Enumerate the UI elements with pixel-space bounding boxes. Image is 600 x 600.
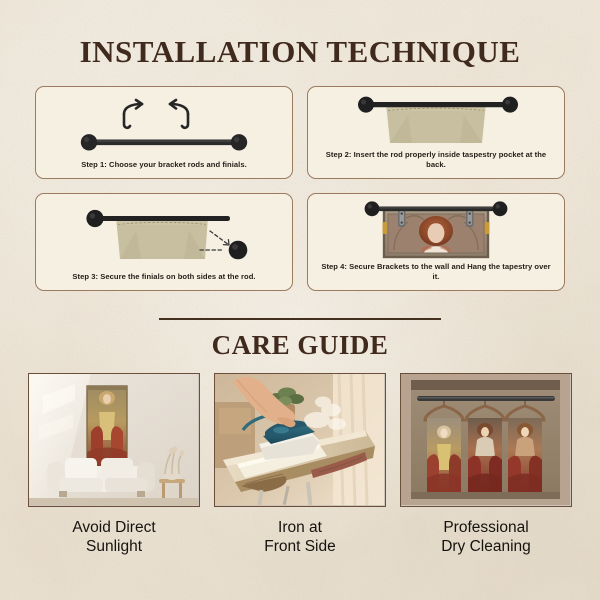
- step-3-caption: Step 3: Secure the finials on both sides…: [68, 272, 259, 283]
- step-card-4: Step 4: Secure Brackets to the wall and …: [307, 193, 565, 291]
- care-guide-title: CARE GUIDE: [0, 332, 600, 359]
- finial-left-attached: [86, 210, 103, 227]
- curtain-rod: [95, 140, 233, 146]
- care-label-avoid-direct-sunlight: Avoid Direct Sunlight: [72, 519, 155, 557]
- installation-steps: Step 1: Choose your bracket rods and fin…: [0, 86, 600, 291]
- page-title: INSTALLATION TECHNIQUE: [0, 0, 600, 67]
- step-1-illustration: [44, 93, 284, 160]
- care-label-line-1: Iron at: [264, 519, 336, 538]
- care-item-avoid-direct-sunlight: Avoid Direct Sunlight: [28, 373, 200, 557]
- care-photo-closet: [400, 373, 572, 507]
- finial-left: [358, 97, 374, 113]
- care-label-professional-dry-cleaning: Professional Dry Cleaning: [441, 519, 531, 557]
- finial-left: [365, 201, 380, 216]
- step-4-illustration: [316, 200, 556, 262]
- tapestry-tab-left: [383, 222, 388, 234]
- wall-bracket-right: [466, 209, 474, 227]
- care-label-line-2: Dry Cleaning: [441, 538, 531, 557]
- curtain-rod: [370, 102, 506, 107]
- finial-right: [231, 135, 247, 151]
- step-card-1: Step 1: Choose your bracket rods and fin…: [35, 86, 293, 179]
- closet-rail: [417, 396, 555, 401]
- curtain-rod: [376, 207, 496, 212]
- care-item-professional-dry-cleaning: Professional Dry Cleaning: [400, 373, 572, 557]
- care-guide-items: Avoid Direct Sunlight: [0, 373, 600, 557]
- bracket-hook-left: [124, 100, 142, 128]
- care-label-iron-at-front-side: Iron at Front Side: [264, 519, 336, 557]
- care-label-line-1: Professional: [441, 519, 531, 538]
- care-label-line-2: Sunlight: [72, 538, 155, 557]
- wall-bracket-left: [398, 209, 406, 227]
- curtain-rod: [100, 216, 230, 221]
- step-1-caption: Step 1: Choose your bracket rods and fin…: [77, 160, 251, 171]
- bracket-hook-right: [170, 100, 188, 128]
- finial-right: [493, 201, 508, 216]
- tapestry-portrait-face: [428, 223, 445, 243]
- step-2-caption: Step 2: Insert the rod properly inside t…: [316, 150, 556, 171]
- finial-right: [502, 97, 518, 113]
- care-item-iron-at-front-side: Iron at Front Side: [214, 373, 386, 557]
- care-photo-living-room: [28, 373, 200, 507]
- tapestry-tab-right: [485, 222, 490, 234]
- step-3-illustration: [44, 200, 284, 272]
- tapestry-panel: [116, 217, 208, 259]
- wall-tapestry: [87, 386, 127, 466]
- step-4-caption: Step 4: Secure Brackets to the wall and …: [316, 262, 556, 283]
- care-label-line-1: Avoid Direct: [72, 519, 155, 538]
- step-card-3: Step 3: Secure the finials on both sides…: [35, 193, 293, 291]
- care-photo-ironing: [214, 373, 386, 507]
- care-label-line-2: Front Side: [264, 538, 336, 557]
- step-card-2: Step 2: Insert the rod properly inside t…: [307, 86, 565, 179]
- step-2-illustration: [316, 93, 556, 150]
- section-divider: [159, 318, 441, 320]
- finial-left: [81, 135, 97, 151]
- finial-detached: [229, 241, 248, 260]
